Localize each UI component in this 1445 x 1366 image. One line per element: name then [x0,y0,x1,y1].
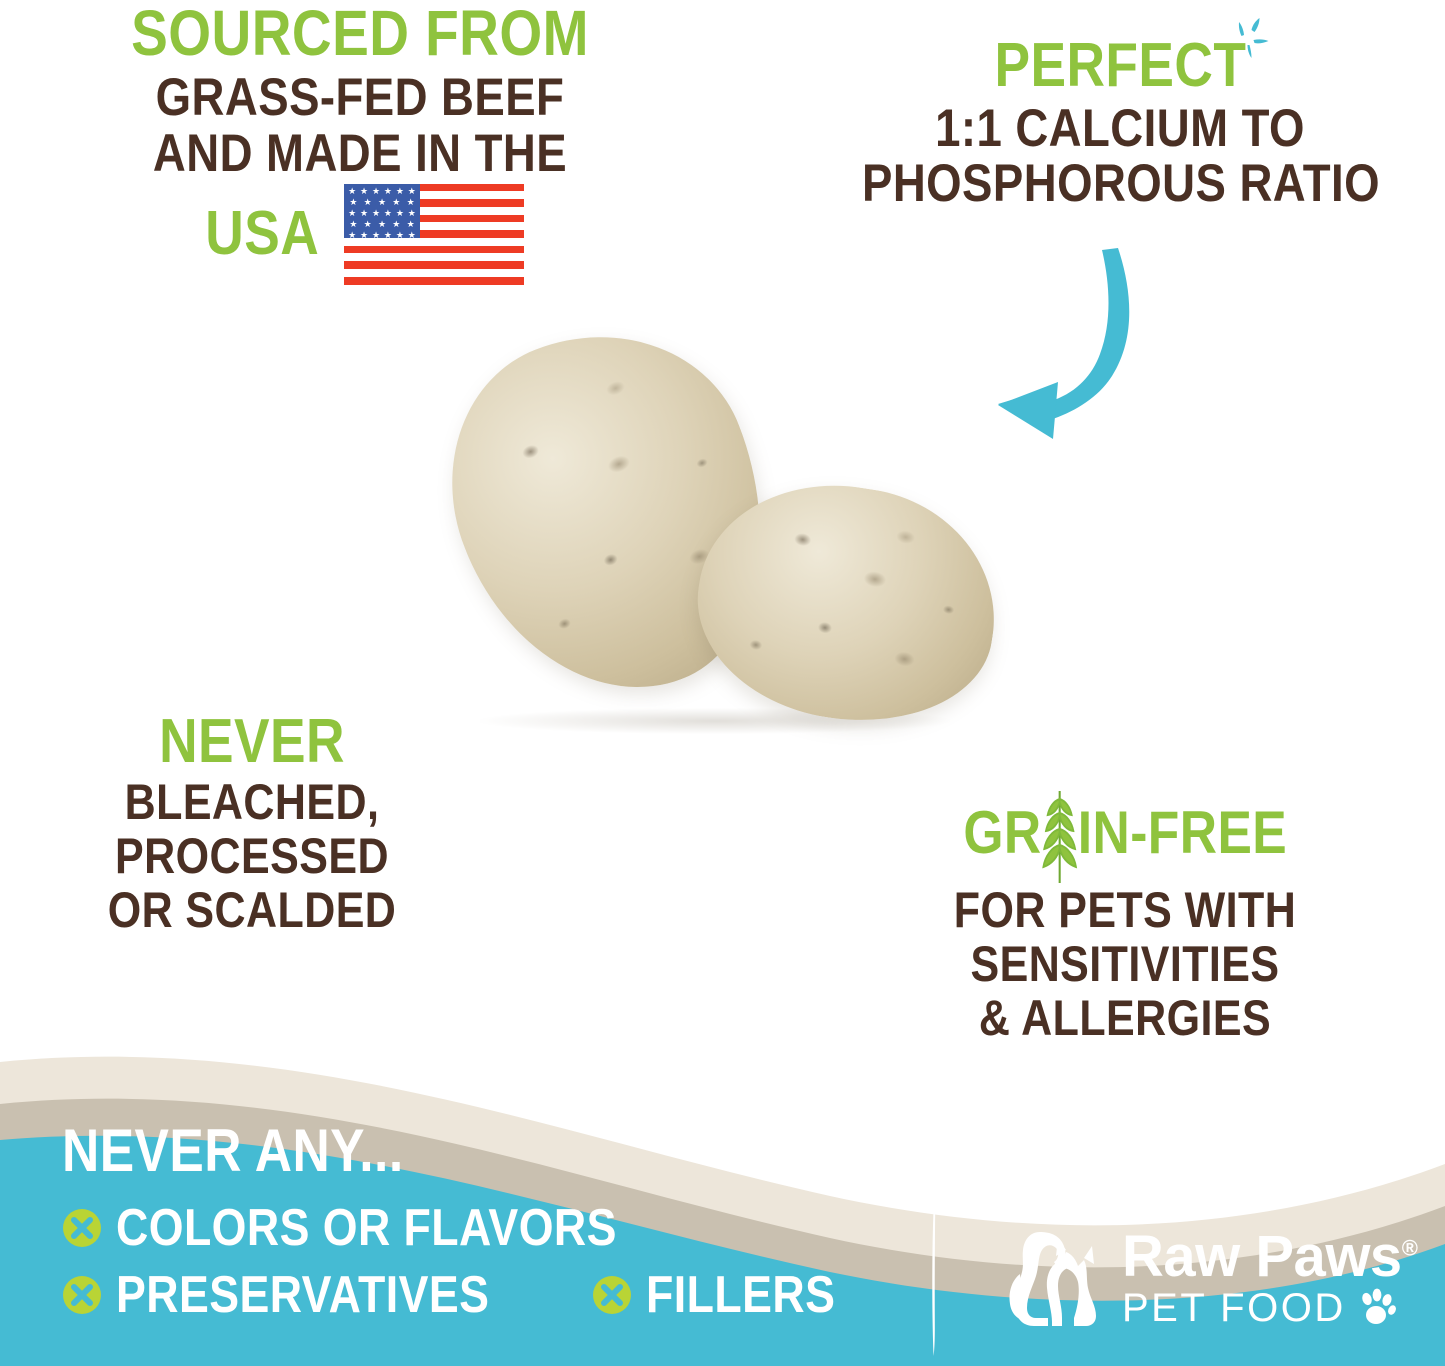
exclusion-label: COLORS OR FLAVORS [116,1203,617,1254]
logo-brand-text: Raw Paws [1122,1224,1402,1289]
claim-never-processed: NEVER BLEACHED, PROCESSED OR SCALDED [52,712,452,935]
perfect-line-3: PHOSPHOROUS RATIO [862,158,1378,210]
never-line-1: NEVER [80,712,424,773]
paw-print-icon [1356,1288,1396,1328]
logo-tagline-row: PET FOOD [1122,1288,1417,1328]
sourced-line-4: USA [205,204,319,265]
vertical-divider [930,1212,937,1356]
sourced-line-3: AND MADE IN THE [93,128,626,180]
grain-line-1-suffix: IN-FREE [1077,804,1286,863]
logo-tagline: PET FOOD [1122,1288,1346,1328]
exclusion-label: FILLERS [646,1270,835,1321]
grain-line-3: SENSITIVITIES [919,940,1332,989]
exclusion-label: PRESERVATIVES [116,1270,489,1321]
x-circle-icon [592,1275,632,1315]
list-item: PRESERVATIVES [62,1270,550,1321]
never-line-2: BLEACHED, [80,778,424,827]
perfect-line-1-wrap: PERFECT [994,36,1246,97]
perfect-line-2: 1:1 CALCIUM TO [862,103,1378,155]
wheat-stalk-icon [1036,789,1082,885]
perfect-line-1: PERFECT [994,31,1246,100]
grain-line-2: FOR PETS WITH [919,886,1332,935]
banner-heading: NEVER ANY... [62,1122,750,1181]
banner-row: COLORS OR FLAVORS [62,1203,862,1254]
usa-flag-icon: ★★★★★★ ★★★★★ ★★★★★★ ★★★★★ ★★★★★★ [344,184,524,285]
never-line-3: PROCESSED [80,832,424,881]
grain-line-1-prefix: GR [963,804,1041,863]
usa-row: USA ★★★★★★ ★★★★★ ★★★★★★ [50,184,670,285]
sourced-line-2: GRASS-FED BEEF [93,72,626,124]
banner-row: PRESERVATIVES FILLERS [62,1270,862,1321]
sparkle-icon [1225,10,1279,64]
product-infographic: SOURCED FROM GRASS-FED BEEF AND MADE IN … [0,0,1445,1366]
never-line-4: OR SCALDED [80,886,424,935]
logo-wordmark: Raw Paws® PET FOOD [1122,1228,1417,1328]
dog-cat-logo-icon [1000,1218,1108,1338]
brand-logo: Raw Paws® PET FOOD [1000,1218,1420,1338]
banner-never-any: NEVER ANY... COLORS OR FLAVORS [62,1122,862,1321]
product-photo [440,325,1080,740]
x-circle-icon [62,1208,102,1248]
sourced-line-1: SOURCED FROM [93,2,626,65]
claim-sourced-from: SOURCED FROM GRASS-FED BEEF AND MADE IN … [50,2,670,285]
grain-line-1: GRIN-FREE [963,785,1287,881]
x-circle-icon [62,1275,102,1315]
banner-exclusion-list: COLORS OR FLAVORS PRESERVATIVES FI [62,1203,862,1321]
claim-grain-free: GRIN-FREE FOR PETS WITH SENSITIVITIES & … [885,785,1365,1043]
list-item: FILLERS [592,1270,866,1321]
list-item: COLORS OR FLAVORS [62,1203,698,1254]
registered-mark: ® [1402,1236,1418,1261]
logo-brand-name: Raw Paws® [1122,1228,1417,1286]
claim-calcium-ratio: PERFECT 1:1 CALCIUM TO PHOSPHOROUS RATIO [820,36,1420,210]
